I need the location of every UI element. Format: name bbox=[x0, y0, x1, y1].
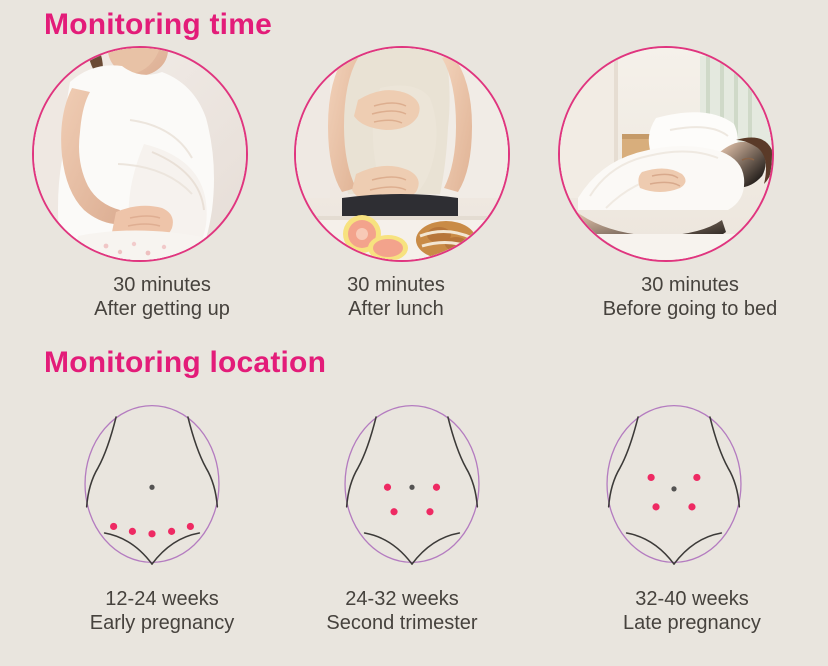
groin-line-right bbox=[674, 533, 721, 564]
monitoring-time-item-after-lunch: 30 minutes After lunch bbox=[272, 46, 548, 321]
torso-outline-left bbox=[347, 417, 376, 507]
monitoring-point-2[interactable] bbox=[433, 484, 440, 491]
pregnant-woman-in-bed-image bbox=[560, 48, 772, 260]
page-title-monitoring-time: Monitoring time bbox=[44, 10, 272, 40]
monitoring-time-item-before-bed: 30 minutes Before going to bed bbox=[530, 46, 806, 321]
caption-before-bed: 30 minutes Before going to bed bbox=[552, 274, 828, 321]
torso-outline-right bbox=[710, 417, 739, 507]
caption-second-trimester: 24-32 weeks Second trimester bbox=[264, 588, 540, 635]
monitoring-time-item-after-getting-up: 30 minutes After getting up bbox=[14, 46, 290, 321]
monitoring-location-item-early-pregnancy: 12-24 weeks Early pregnancy bbox=[14, 386, 290, 635]
monitoring-point-5[interactable] bbox=[187, 523, 194, 530]
monitoring-point-4[interactable] bbox=[688, 503, 695, 510]
pregnant-woman-side-view-image bbox=[34, 48, 246, 260]
torso-outline-left bbox=[609, 417, 638, 507]
photo-circle-after-getting-up bbox=[32, 46, 248, 262]
pregnant-woman-with-lunch-image bbox=[296, 48, 508, 260]
monitoring-point-1[interactable] bbox=[110, 523, 117, 530]
monitoring-point-1[interactable] bbox=[384, 484, 391, 491]
navel-marker bbox=[149, 485, 154, 490]
photo-circle-after-lunch bbox=[294, 46, 510, 262]
belly-diagram-early-pregnancy bbox=[54, 386, 250, 582]
torso-outline-right bbox=[188, 417, 217, 507]
diagram-ring-circle bbox=[85, 406, 219, 563]
monitoring-time-photo-row: 30 minutes After getting up bbox=[0, 46, 828, 316]
belly-diagram-late-pregnancy bbox=[576, 386, 772, 582]
belly-diagram-second-trimester bbox=[314, 386, 510, 582]
diagram-ring-circle bbox=[345, 406, 479, 563]
page-title-monitoring-location: Monitoring location bbox=[44, 348, 326, 378]
navel-marker bbox=[409, 485, 414, 490]
monitoring-point-4[interactable] bbox=[168, 528, 175, 535]
monitoring-location-diagram-row: 12-24 weeks Early pregnancy 24-32 weeks … bbox=[0, 386, 828, 666]
torso-outline-left bbox=[87, 417, 116, 507]
monitoring-location-item-second-trimester: 24-32 weeks Second trimester bbox=[272, 386, 548, 635]
groin-line-left bbox=[105, 533, 152, 564]
monitoring-location-item-late-pregnancy: 32-40 weeks Late pregnancy bbox=[530, 386, 806, 635]
torso-outline-right bbox=[448, 417, 477, 507]
navel-marker bbox=[671, 486, 676, 491]
groin-line-right bbox=[412, 533, 459, 564]
monitoring-point-1[interactable] bbox=[648, 474, 655, 481]
monitoring-point-3[interactable] bbox=[148, 530, 155, 537]
photo-circle-before-bed bbox=[558, 46, 774, 262]
caption-after-lunch: 30 minutes After lunch bbox=[258, 274, 534, 321]
caption-early-pregnancy: 12-24 weeks Early pregnancy bbox=[24, 588, 300, 635]
groin-line-right bbox=[152, 533, 199, 564]
monitoring-point-3[interactable] bbox=[390, 508, 397, 515]
caption-late-pregnancy: 32-40 weeks Late pregnancy bbox=[554, 588, 828, 635]
monitoring-point-2[interactable] bbox=[693, 474, 700, 481]
monitoring-point-2[interactable] bbox=[129, 528, 136, 535]
monitoring-point-4[interactable] bbox=[426, 508, 433, 515]
groin-line-left bbox=[365, 533, 412, 564]
diagram-ring-circle bbox=[607, 406, 741, 563]
monitoring-point-3[interactable] bbox=[652, 503, 659, 510]
groin-line-left bbox=[627, 533, 674, 564]
